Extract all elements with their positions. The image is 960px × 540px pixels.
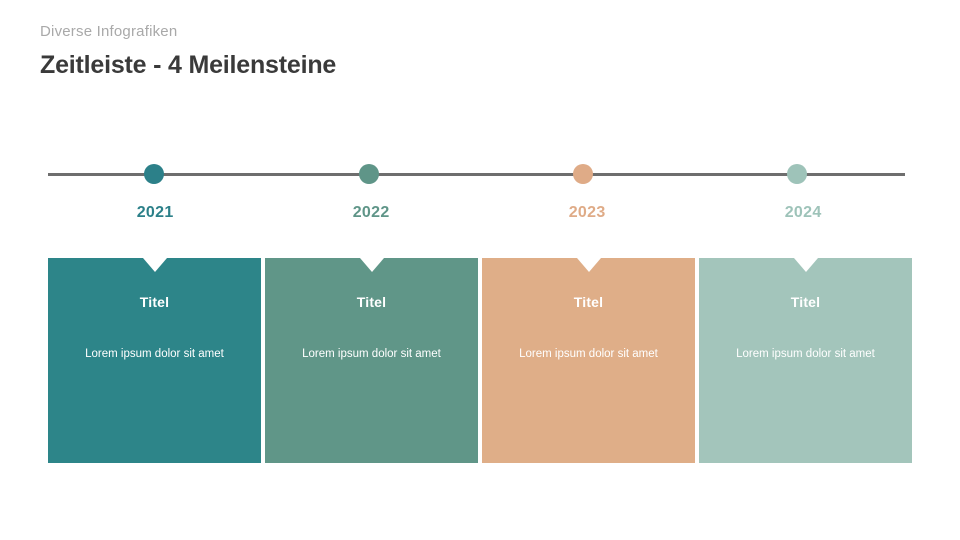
milestone-dot-2021[interactable]	[144, 164, 164, 184]
year-label-2021: 2021	[137, 204, 174, 222]
page-header: Diverse Infografiken Zeitleiste - 4 Meil…	[40, 22, 336, 82]
panel-title: Titel	[482, 294, 695, 310]
panel-title: Titel	[265, 294, 478, 310]
milestone-dot-2022[interactable]	[359, 164, 379, 184]
panel-body-text: Lorem ipsum dolor sit amet	[509, 346, 669, 363]
panel-notch-icon	[143, 258, 167, 272]
milestone-panel-row: Titel Lorem ipsum dolor sit amet Titel L…	[48, 258, 912, 463]
panel-notch-icon	[794, 258, 818, 272]
year-label-row: 2021 2022 2023 2024	[48, 204, 912, 228]
milestone-panel-2022[interactable]: Titel Lorem ipsum dolor sit amet	[265, 258, 478, 463]
panel-body-text: Lorem ipsum dolor sit amet	[292, 346, 452, 363]
panel-title: Titel	[48, 294, 261, 310]
year-label-2022: 2022	[353, 204, 390, 222]
milestone-panel-2024[interactable]: Titel Lorem ipsum dolor sit amet	[699, 258, 912, 463]
milestone-panel-2021[interactable]: Titel Lorem ipsum dolor sit amet	[48, 258, 261, 463]
panel-notch-icon	[360, 258, 384, 272]
year-label-2023: 2023	[569, 204, 606, 222]
milestone-dot-2024[interactable]	[787, 164, 807, 184]
milestone-dot-2023[interactable]	[573, 164, 593, 184]
panel-body-text: Lorem ipsum dolor sit amet	[726, 346, 886, 363]
panel-notch-icon	[577, 258, 601, 272]
panel-title: Titel	[699, 294, 912, 310]
eyebrow-text: Diverse Infografiken	[40, 22, 336, 42]
timeline-axis	[48, 173, 905, 176]
milestone-panel-2023[interactable]: Titel Lorem ipsum dolor sit amet	[482, 258, 695, 463]
page-title: Zeitleiste - 4 Meilensteine	[40, 48, 336, 82]
panel-body-text: Lorem ipsum dolor sit amet	[75, 346, 235, 363]
year-label-2024: 2024	[785, 204, 822, 222]
